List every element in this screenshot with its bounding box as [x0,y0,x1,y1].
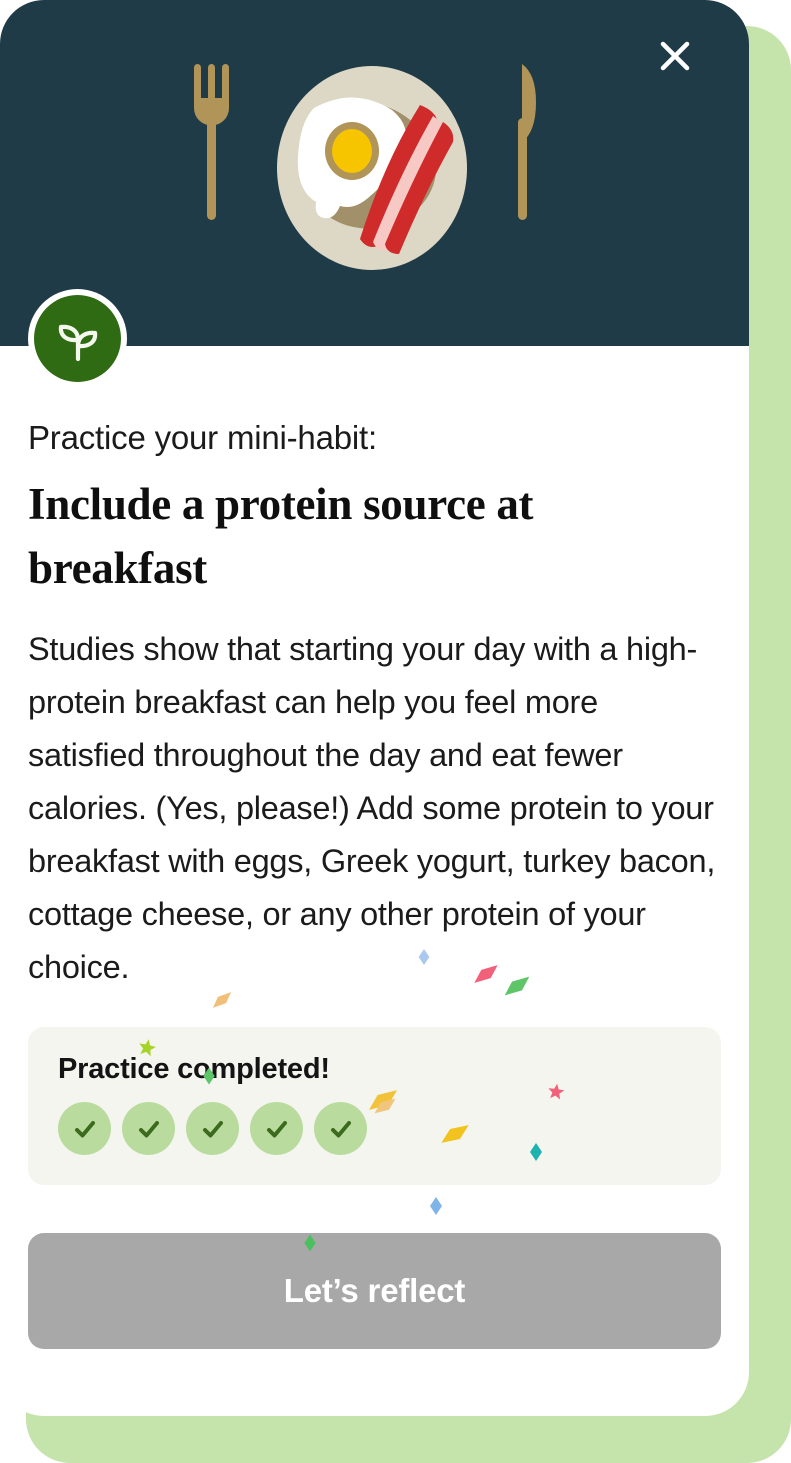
sprout-badge-circle [34,295,121,382]
practice-check-list [58,1102,691,1155]
body-description: Studies show that starting your day with… [28,623,721,994]
practice-check-3 [186,1102,239,1155]
check-icon [134,1114,164,1144]
hero-banner [0,0,749,346]
practice-check-5 [314,1102,367,1155]
fork-icon [194,64,229,220]
check-icon [198,1114,228,1144]
practice-completed-panel: Practice completed! [28,1027,721,1185]
check-icon [262,1114,292,1144]
sprout-icon [52,313,104,365]
eyebrow-label: Practice your mini-habit: [28,418,721,459]
egg-yolk-shape [332,129,372,173]
card-content: Practice your mini-habit: Include a prot… [0,346,749,1349]
close-x-icon [655,36,695,76]
knife-icon [518,64,536,220]
check-icon [326,1114,356,1144]
check-icon [70,1114,100,1144]
sprout-badge [28,289,127,388]
practice-check-4 [250,1102,303,1155]
practice-check-2 [122,1102,175,1155]
screen-root: Practice your mini-habit: Include a prot… [0,0,791,1463]
close-button[interactable] [653,34,697,78]
practice-check-1 [58,1102,111,1155]
page-title: Include a protein source at breakfast [28,473,668,601]
habit-card: Practice your mini-habit: Include a prot… [0,0,749,1416]
practice-completed-title: Practice completed! [58,1053,691,1086]
breakfast-plate-illustration [175,58,575,288]
lets-reflect-button[interactable]: Let’s reflect [28,1233,721,1349]
